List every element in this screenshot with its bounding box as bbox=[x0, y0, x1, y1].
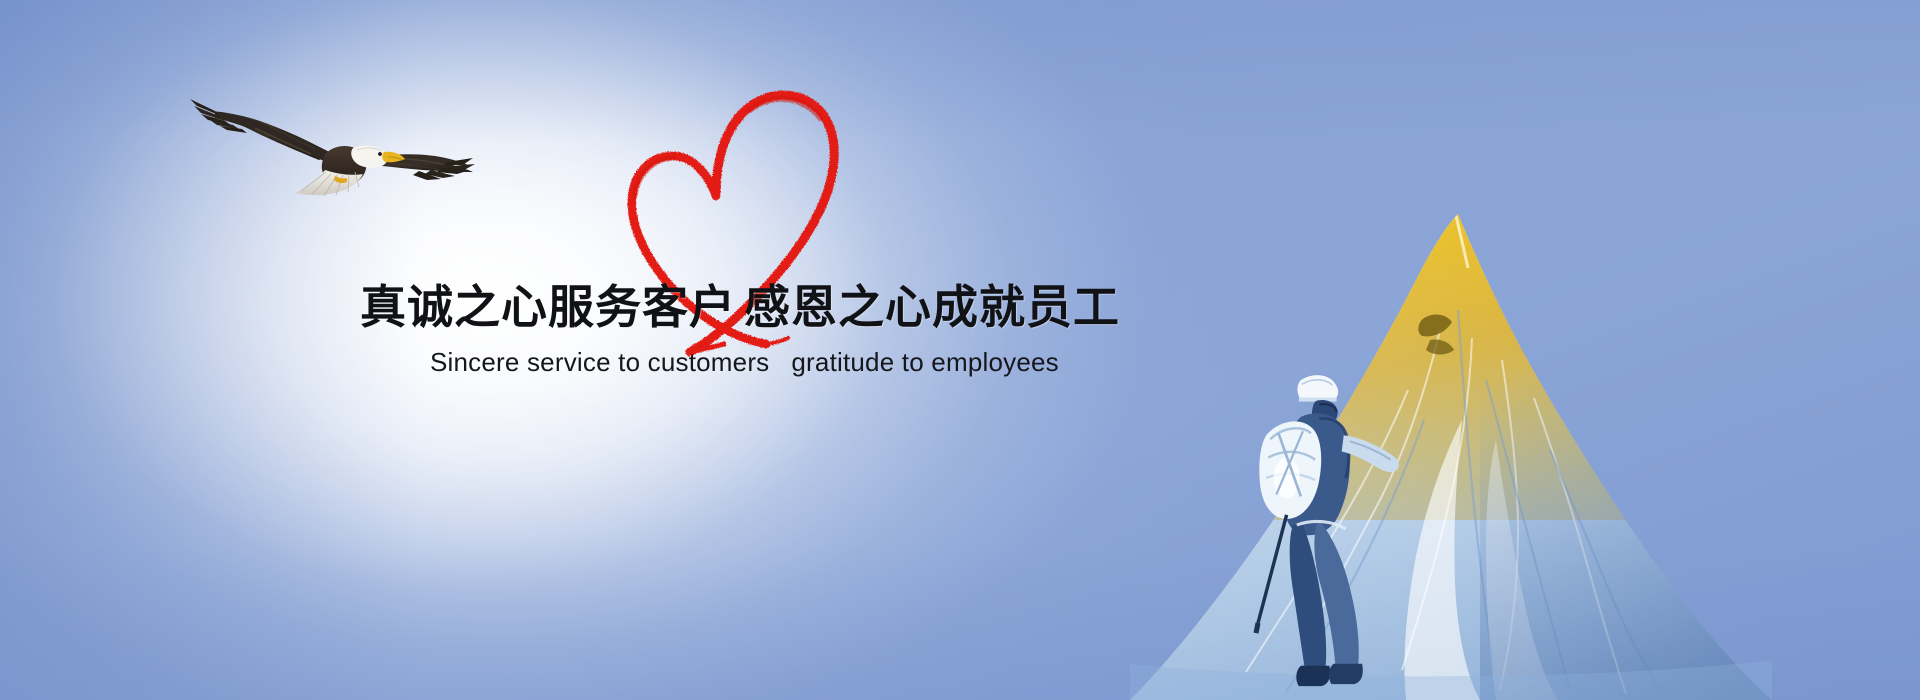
mountain-peak bbox=[1010, 190, 1920, 700]
climber-helmet bbox=[1297, 375, 1338, 399]
eagle-left-wing bbox=[190, 99, 333, 164]
mountain-scene bbox=[1010, 190, 1920, 700]
mountain-image bbox=[1010, 190, 1920, 700]
corporate-culture-banner: 真诚之心服务客户 感恩之心成就员工 Sincere service to cus… bbox=[0, 0, 1920, 700]
climber-boot-back bbox=[1296, 666, 1330, 686]
heart-icon bbox=[612, 70, 872, 360]
eagle-image bbox=[185, 92, 475, 217]
climber-boot-front bbox=[1329, 664, 1363, 684]
eagle-icon bbox=[185, 92, 475, 217]
heart-image bbox=[612, 70, 872, 360]
